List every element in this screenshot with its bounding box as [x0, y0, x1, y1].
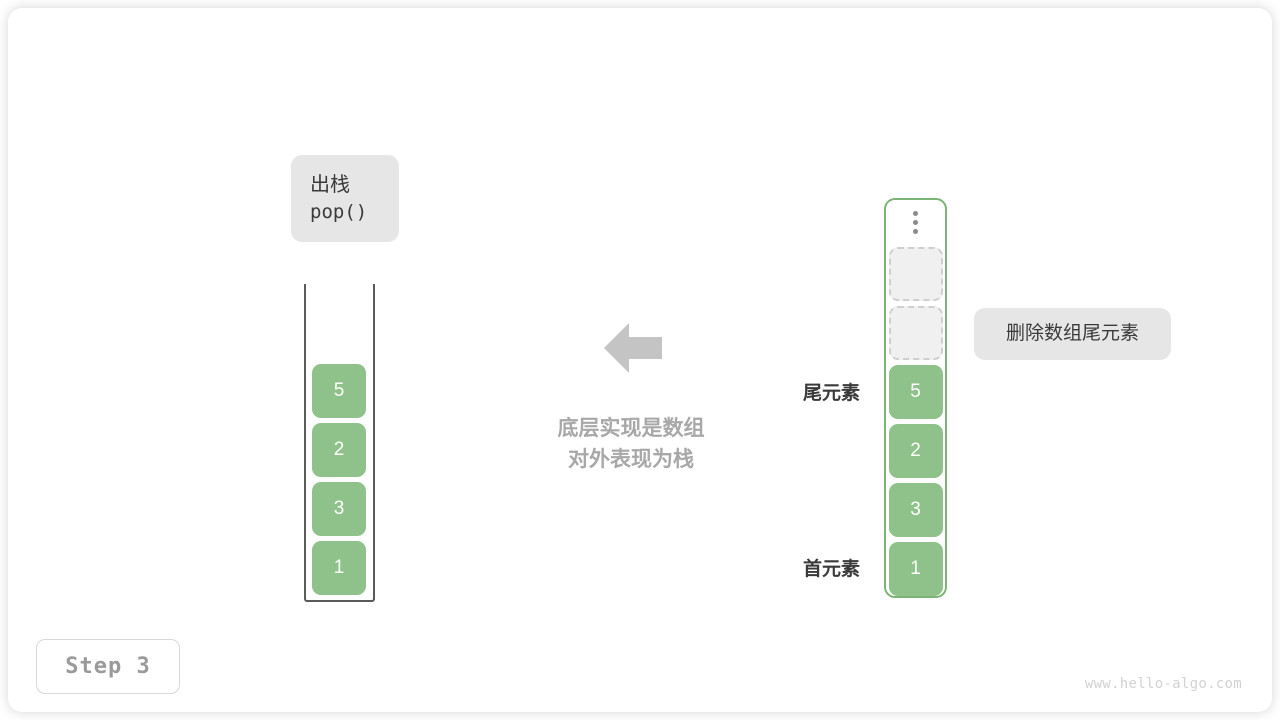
pop-operation-badge: 出栈 pop() [291, 155, 399, 242]
array-container: 5231 [884, 198, 947, 598]
delete-tail-badge: 删除数组尾元素 [974, 308, 1171, 360]
stack-cell: 2 [312, 423, 366, 477]
pop-badge-method: pop() [310, 199, 367, 226]
tail-element-label: 尾元素 [700, 378, 860, 405]
pop-badge-title: 出栈 [310, 171, 350, 199]
step-badge: Step 3 [36, 639, 180, 694]
array-cell: 3 [889, 483, 943, 537]
array-cell: 2 [889, 424, 943, 478]
head-element-label: 首元素 [700, 554, 860, 581]
vertical-ellipsis-icon [889, 200, 943, 244]
array-cell: 5 [889, 365, 943, 419]
center-caption: 底层实现是数组 对外表现为栈 [481, 414, 781, 476]
watermark: www.hello-algo.com [1085, 676, 1242, 692]
array-cell-list: 5231 [888, 200, 943, 596]
delete-badge-text: 删除数组尾元素 [1006, 321, 1139, 348]
stack-cell: 1 [312, 541, 366, 595]
array-empty-slot [889, 306, 943, 360]
stack-container: 5231 [304, 284, 375, 602]
stack-cell: 5 [312, 364, 366, 418]
array-empty-slot [889, 247, 943, 301]
stack-cell-list: 5231 [312, 364, 366, 595]
caption-line-1: 底层实现是数组 [481, 414, 781, 445]
array-cell: 1 [889, 542, 943, 596]
stack-cell: 3 [312, 482, 366, 536]
caption-line-2: 对外表现为栈 [481, 445, 781, 476]
arrow-left-icon [602, 317, 664, 379]
diagram-canvas: 出栈 pop() 5231 底层实现是数组 对外表现为栈 尾元素 首元素 523… [0, 0, 1280, 720]
